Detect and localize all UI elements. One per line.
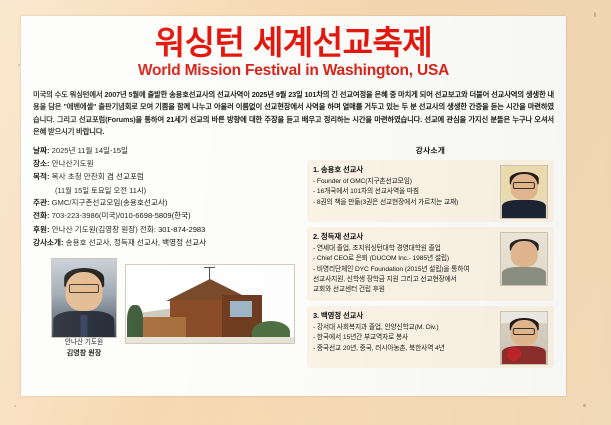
- detail-row-place: 장소: 안나산기도원: [33, 158, 305, 170]
- detail-purpose-time: (11월 15일 토요일 오전 11시): [33, 185, 305, 196]
- page-title: 워싱턴 세계선교축제: [21, 26, 566, 61]
- detail-label: 주관:: [33, 198, 50, 207]
- detail-row-purpose: 목적: 목사 초청 만찬회 겸 선교포럼: [33, 171, 305, 183]
- paper-speck: [14, 405, 16, 407]
- speaker-card: 1. 송용호 선교사 - Founder of GMC(지구촌선교모임) - 1…: [307, 160, 554, 222]
- paper-speck: [594, 12, 596, 17]
- poster-frame: 워싱턴 세계선교축제 World Mission Festival in Was…: [0, 0, 611, 425]
- speaker-bullet: 선교사지원, 신학생 장학금 지원 그리고 선교현장에서: [313, 275, 491, 285]
- speaker-bullet: - 강서대 사회복지과 졸업, 안양신학교(M. Div.): [313, 323, 491, 333]
- portrait-caption-line2: 김영창 원장: [39, 348, 129, 358]
- event-details-column: 날짜: 2025년 11월 14일-15일 장소: 안나산기도원 목적: 목사 …: [33, 145, 305, 367]
- portrait-caption-line1: 안나산 기도원: [39, 338, 129, 348]
- detail-value: 송용호 선교사, 정득재 선교사, 백영정 선교사: [66, 238, 207, 247]
- window-shape: [230, 301, 252, 317]
- glasses-icon: [69, 284, 99, 293]
- speaker-bullet: - Founder of GMC(지구촌선교모임): [313, 177, 491, 187]
- page-subtitle: World Mission Festival in Washington, US…: [21, 62, 566, 80]
- tree-shape: [127, 305, 143, 341]
- detail-label: 강사소개:: [33, 238, 63, 247]
- detail-label: 후원:: [33, 225, 50, 234]
- detail-row-sponsor: 후원: 안나산 기도원(김영창 원장) 전화: 301-874-2983: [33, 224, 305, 236]
- speakers-heading: 강사소개: [307, 145, 554, 156]
- speaker-bullet: - 한국에서 15년간 부교역자로 봉사: [313, 333, 491, 343]
- ground-shape: [126, 337, 294, 343]
- detail-value: GMC/지구촌선교모임(송용호선교사): [52, 198, 168, 207]
- detail-value: 목사 초청 만찬회 겸 선교포럼: [52, 172, 144, 181]
- detail-row-speakers: 강사소개: 송용호 선교사, 정득재 선교사, 백영정 선교사: [33, 237, 305, 249]
- speaker-bullet: - 비영리단체인 DYC Foundation (2015년 설립)을 통하여: [313, 265, 491, 275]
- intro-paragraph: 미국의 수도 워싱턴에서 2007년 5월에 출발한 송용호선교사의 선교사역이…: [33, 89, 554, 139]
- speakers-column: 강사소개 1. 송용호 선교사 - Founder of GMC(지구촌선교모임…: [307, 145, 554, 373]
- detail-label: 날짜:: [33, 146, 50, 155]
- necktie-shape: [81, 315, 88, 337]
- speaker-photo: [500, 311, 548, 365]
- detail-row-host: 주관: GMC/지구촌선교모임(송용호선교사): [33, 197, 305, 209]
- body-columns: 날짜: 2025년 11월 14일-15일 장소: 안나산기도원 목적: 목사 …: [21, 145, 566, 395]
- speaker-card: 2. 정득재 선교사 - 연세대 졸업, 조지워싱턴대학 경영대학원 졸업 - …: [307, 227, 554, 301]
- detail-label: 전화:: [33, 211, 50, 220]
- detail-label: 목적:: [33, 172, 50, 181]
- speaker-bullet: - Chief CEO로 은퇴 (DUCOM Inc.- 1985년 설립): [313, 254, 491, 264]
- glasses-icon: [513, 328, 535, 335]
- prayer-house-photo: [125, 264, 295, 344]
- detail-value: 703-223-3986(미국)/010-6698-5809(한국): [52, 211, 191, 220]
- paper-speck: [18, 64, 20, 66]
- glasses-icon: [513, 182, 535, 189]
- shirt-shape: [502, 267, 546, 285]
- detail-row-phone: 전화: 703-223-3986(미국)/010-6698-5809(한국): [33, 210, 305, 222]
- speaker-card: 3. 백영정 선교사 - 강서대 사회복지과 졸업, 안양신학교(M. Div.…: [307, 306, 554, 368]
- speaker-bullets: - 연세대 졸업, 조지워싱턴대학 경영대학원 졸업 - Chief CEO로 …: [313, 244, 491, 296]
- portrait-caption: 안나산 기도원 김영창 원장: [39, 338, 129, 358]
- speaker-bullet: - 16개국에서 101차의 선교사역을 마침: [313, 187, 491, 197]
- detail-label: 장소:: [33, 159, 50, 168]
- director-portrait-photo: [51, 258, 117, 338]
- detail-value: 안나산기도원: [52, 159, 94, 168]
- flower-shape: [507, 347, 521, 361]
- detail-value: 안나산 기도원(김영창 원장) 전화: 301-874-2983: [52, 225, 206, 234]
- speaker-bullet: - 연세대 졸업, 조지워싱턴대학 경영대학원 졸업: [313, 244, 491, 254]
- speaker-photo: [500, 232, 548, 286]
- speaker-bullets: - 강서대 사회복지과 졸업, 안양신학교(M. Div.) - 한국에서 15…: [313, 323, 491, 354]
- face-shape: [511, 241, 538, 267]
- detail-row-date: 날짜: 2025년 11월 14일-15일: [33, 145, 305, 157]
- speaker-bullets: - Founder of GMC(지구촌선교모임) - 16개국에서 101차의…: [313, 177, 491, 208]
- speaker-bullet: 교회와 선교센터 건립 후원: [313, 285, 491, 295]
- paper-speck: [583, 404, 586, 407]
- speaker-bullet: - 중국선교 20년, 중국, 러시아농촌, 북한사역 4년: [313, 344, 491, 354]
- speaker-bullet: - 8권의 책을 만듦(3권은 선교현장에서 가르치는 교재): [313, 198, 491, 208]
- suit-shape: [502, 200, 546, 218]
- detail-value: 2025년 11월 14일-15일: [52, 146, 128, 155]
- left-photo-group: 안나산 기도원 김영창 원장: [33, 258, 305, 366]
- poster-sheet: 워싱턴 세계선교축제 World Mission Festival in Was…: [21, 16, 566, 396]
- speaker-photo: [500, 165, 548, 219]
